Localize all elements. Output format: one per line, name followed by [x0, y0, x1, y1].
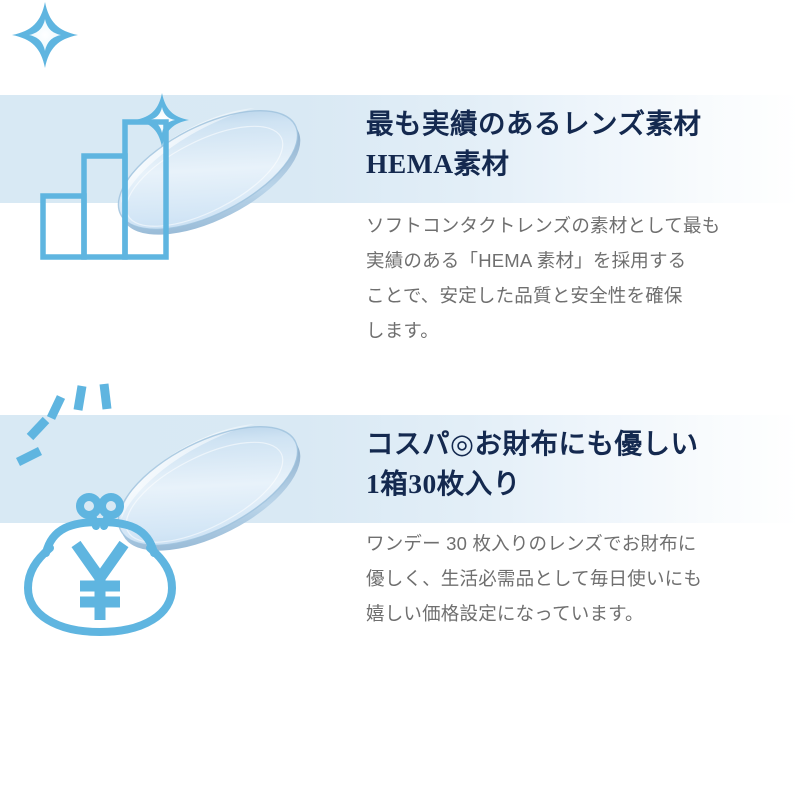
feature-1-headline: 最も実績のあるレンズ素材 HEMA素材 — [366, 104, 786, 184]
feature-2-body: ワンデー 30 枚入りのレンズでお財布に 優しく、生活必需品として毎日使いにも … — [366, 526, 786, 631]
feature-2-headline: コスパ◎お財布にも優しい 1箱30枚入り — [366, 424, 786, 504]
sparkle-icon — [135, 93, 189, 147]
shine-lines-icon — [18, 384, 107, 462]
contact-lens-icon — [100, 85, 318, 259]
contact-lens-icon — [100, 401, 318, 575]
yen-symbol-icon — [76, 544, 124, 620]
promo-page: 最も実績のあるレンズ素材 HEMA素材 ソフトコンタクトレンズの素材として最も … — [0, 0, 800, 800]
bar-chart-icon — [43, 122, 166, 257]
coin-purse-yen-icon — [28, 497, 172, 632]
feature-1-copy: 最も実績のあるレンズ素材 HEMA素材 ソフトコンタクトレンズの素材として最も … — [366, 104, 786, 348]
sparkle-icon — [12, 2, 78, 68]
feature-2-artwork — [0, 320, 360, 800]
feature-block-cost: コスパ◎お財布にも優しい 1箱30枚入り ワンデー 30 枚入りのレンズでお財布… — [0, 320, 800, 800]
feature-2-copy: コスパ◎お財布にも優しい 1箱30枚入り ワンデー 30 枚入りのレンズでお財布… — [366, 424, 786, 631]
